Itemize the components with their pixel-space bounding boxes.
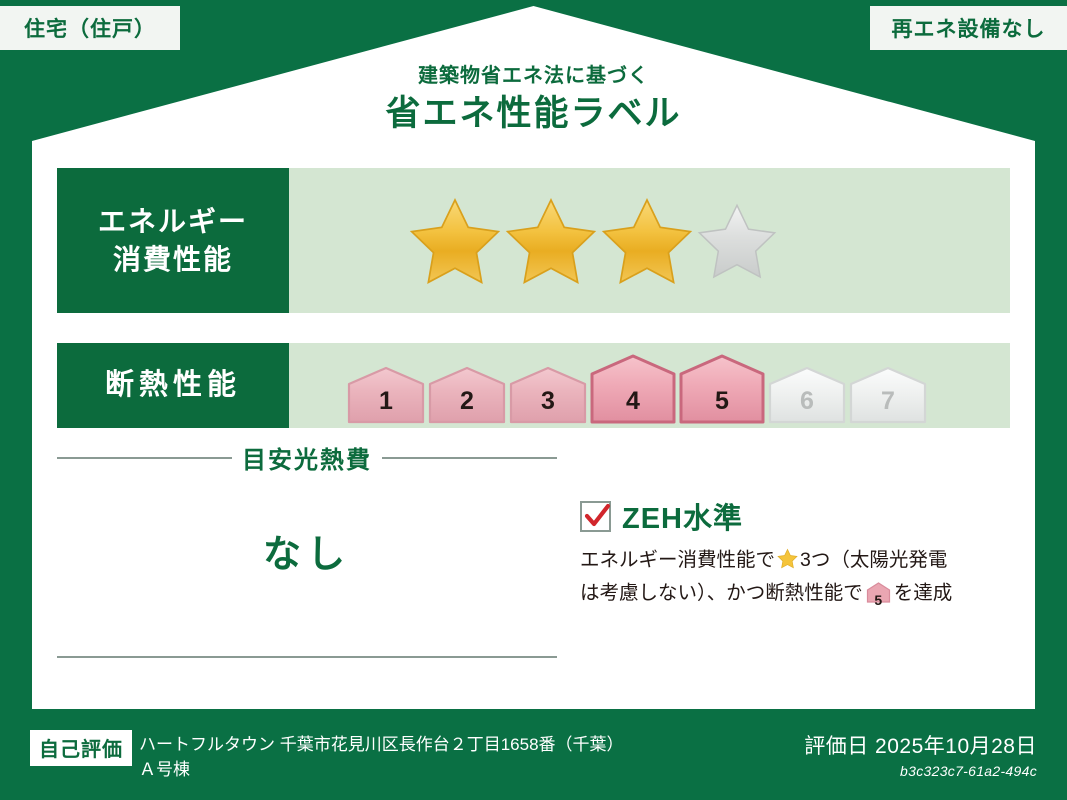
- insulation-grade-scale: 1234567: [347, 354, 927, 424]
- evaluation-id: b3c323c7-61a2-494c: [804, 763, 1037, 779]
- zeh-checkbox[interactable]: [580, 501, 611, 532]
- energy-performance-value: [289, 168, 1010, 313]
- heading-rule-left: [57, 457, 232, 459]
- insulation-grade-number: 7: [849, 387, 927, 416]
- insulation-grade-1: 1: [347, 366, 425, 424]
- address-line-1: ハートフルタウン 千葉市花見川区長作台２丁目1658番（千葉）: [139, 733, 624, 758]
- inline-star-icon: [777, 548, 798, 578]
- zeh-desc-part2: は考慮しない）、かつ断熱性能で: [580, 582, 863, 604]
- label-header: 建築物省エネ法に基づく 省エネ性能ラベル: [0, 62, 1067, 136]
- zeh-title-row: ZEH水準: [580, 495, 1015, 537]
- cost-section-bottom-rule: [57, 656, 557, 658]
- insulation-grade-2: 2: [428, 366, 506, 424]
- estimated-utility-cost-section: 目安光熱費 なし: [57, 440, 557, 578]
- zeh-title: ZEH水準: [622, 495, 743, 537]
- zeh-description: エネルギー消費性能で 3つ（太陽光発電は考慮しない）、かつ断熱性能で 5 を達成: [580, 545, 1015, 612]
- estimated-utility-cost-value: なし: [57, 523, 557, 578]
- insulation-grade-number: 6: [768, 387, 846, 416]
- inline-house-level: 5: [866, 590, 891, 612]
- renewable-energy-badge: 再エネ設備なし: [870, 6, 1067, 50]
- page-title: 省エネ性能ラベル: [0, 92, 1067, 136]
- insulation-grade-number: 2: [428, 387, 506, 416]
- check-icon: [584, 503, 611, 530]
- star-rating: [409, 195, 777, 287]
- energy-performance-row: エネルギー 消費性能: [57, 168, 1010, 313]
- star-filled-icon: [505, 195, 597, 287]
- energy-label-line2: 消費性能: [113, 241, 233, 279]
- building-type-badge: 住宅（住戸）: [0, 6, 180, 50]
- header-subtitle: 建築物省エネ法に基づく: [0, 62, 1067, 90]
- star-filled-icon: [409, 195, 501, 287]
- insulation-grade-3: 3: [509, 366, 587, 424]
- energy-performance-label-key: エネルギー 消費性能: [57, 168, 289, 313]
- insulation-grade-6: 6: [768, 366, 846, 424]
- estimated-utility-cost-title: 目安光熱費: [242, 440, 372, 475]
- insulation-grade-number: 1: [347, 387, 425, 416]
- footer-right-group: 評価日 2025年10月28日 b3c323c7-61a2-494c: [804, 730, 1037, 779]
- inline-house-icon: 5: [866, 582, 891, 612]
- footer-left-group: 自己評価 ハートフルタウン 千葉市花見川区長作台２丁目1658番（千葉） Ａ号棟: [30, 730, 624, 782]
- star-empty-icon: [697, 201, 777, 281]
- insulation-grade-7: 7: [849, 366, 927, 424]
- zeh-desc-part1: エネルギー消費性能で: [580, 549, 775, 571]
- insulation-grade-number: 4: [590, 387, 676, 416]
- energy-performance-label: 住宅（住戸） 再エネ設備なし 建築物省エネ法に基づく 省エネ性能ラベル エネルギ…: [0, 0, 1067, 800]
- heading-rule-right: [382, 457, 557, 459]
- insulation-performance-row: 断熱性能 1234567: [57, 343, 1010, 428]
- insulation-performance-label-key: 断熱性能: [57, 343, 289, 428]
- insulation-grade-number: 5: [679, 387, 765, 416]
- label-footer: 自己評価 ハートフルタウン 千葉市花見川区長作台２丁目1658番（千葉） Ａ号棟…: [0, 716, 1067, 800]
- insulation-grade-4: 4: [590, 354, 676, 424]
- zeh-desc-part3: を達成: [894, 582, 953, 604]
- insulation-performance-value: 1234567: [289, 343, 1010, 428]
- address-line-2: Ａ号棟: [139, 758, 624, 783]
- property-address: ハートフルタウン 千葉市花見川区長作台２丁目1658番（千葉） Ａ号棟: [139, 730, 624, 782]
- self-evaluation-badge: 自己評価: [30, 730, 132, 766]
- energy-label-line1: エネルギー: [98, 203, 248, 241]
- estimated-utility-cost-heading: 目安光熱費: [57, 440, 557, 475]
- star-filled-icon: [601, 195, 693, 287]
- zeh-standard-block: ZEH水準 エネルギー消費性能で 3つ（太陽光発電は考慮しない）、かつ断熱性能で…: [580, 495, 1015, 612]
- zeh-desc-star-count: 3つ（太陽光発電: [800, 549, 947, 571]
- insulation-grade-5: 5: [679, 354, 765, 424]
- insulation-grade-number: 3: [509, 387, 587, 416]
- evaluation-date: 評価日 2025年10月28日: [804, 730, 1037, 760]
